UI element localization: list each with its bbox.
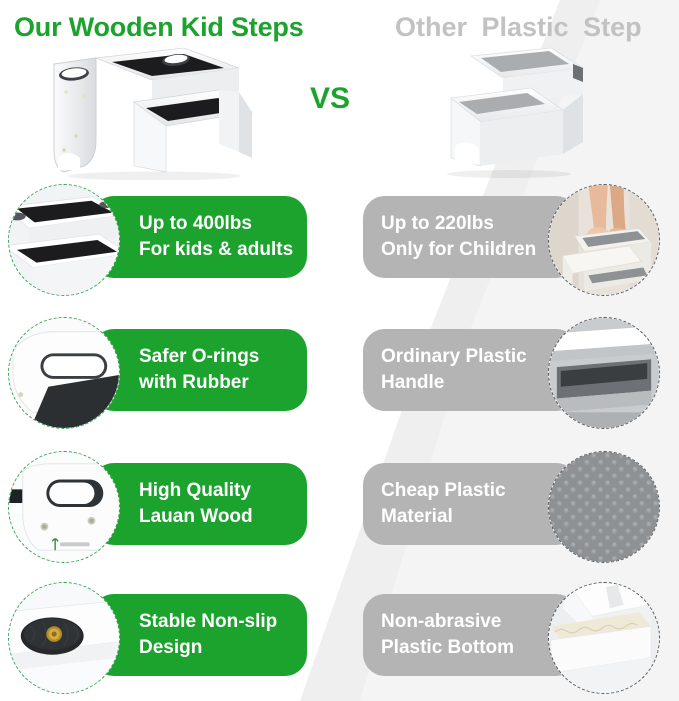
feature-pill-theirs: Non-abrasive Plastic Bottom [363, 594, 578, 676]
feature-line-2: Design [139, 635, 307, 661]
comparison-row: High Quality Lauan Wood [0, 447, 679, 577]
feature-image-ours [8, 451, 120, 563]
feature-pill-theirs: Cheap Plastic Material [363, 463, 578, 545]
feature-line-2: For kids & adults [139, 237, 307, 263]
feature-pill-ours: Up to 400lbs For kids & adults [92, 196, 307, 278]
comparison-row: Stable Non-slip Design [0, 578, 679, 701]
page-title-right: Other Plastic Step [395, 12, 642, 43]
feature-pill-theirs: Ordinary Plastic Handle [363, 329, 578, 411]
feature-image-ours [8, 317, 120, 429]
feature-line-1: Stable Non-slip [139, 609, 307, 635]
comparison-row: Up to 400lbs For kids & adults Up t [0, 180, 679, 310]
feature-pill-theirs: Up to 220lbs Only for Children [363, 196, 578, 278]
feature-line-2: with Rubber [139, 370, 307, 396]
feature-image-theirs [548, 582, 660, 694]
feature-line-1: Up to 400lbs [139, 211, 307, 237]
feature-image-ours [8, 582, 120, 694]
vs-label: VS [310, 82, 350, 116]
feature-pill-ours: High Quality Lauan Wood [92, 463, 307, 545]
comparison-infographic: Our Wooden Kid Steps Other Plastic Step … [0, 0, 679, 701]
feature-image-ours [8, 184, 120, 296]
feature-line-1: High Quality [139, 478, 307, 504]
feature-image-theirs [548, 317, 660, 429]
feature-image-theirs [548, 184, 660, 296]
comparison-row: Safer O-rings with Rubber [0, 313, 679, 443]
hero-wooden-stool-image [34, 40, 259, 180]
hero-plastic-stool-image [423, 42, 598, 184]
feature-image-theirs [548, 451, 660, 563]
feature-line-2: Lauan Wood [139, 504, 307, 530]
feature-line-1: Safer O-rings [139, 344, 307, 370]
feature-pill-ours: Safer O-rings with Rubber [92, 329, 307, 411]
feature-pill-ours: Stable Non-slip Design [92, 594, 307, 676]
page-title-left: Our Wooden Kid Steps [14, 12, 304, 43]
header-row: Our Wooden Kid Steps Other Plastic Step [0, 0, 679, 52]
